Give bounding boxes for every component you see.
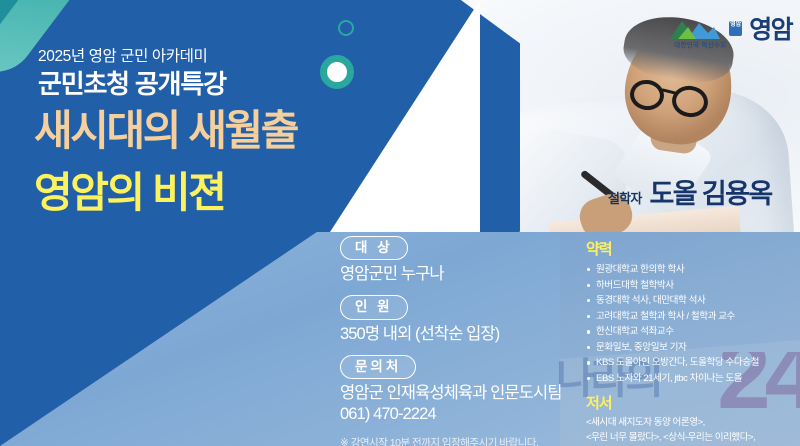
details-column: 대 상 영암군민 누구나 인 원 350명 내외 (선착순 입장) 문의처 영암… [340,236,570,446]
speaker-role: 철학자 [608,188,641,211]
detail-label-audience: 대 상 [340,236,408,260]
event-poster: 대한민국 혁신수도 영암 영암 2025년 영암 군민 아카데미 군민초청 공개… [0,0,800,446]
mountain-icon: 대한민국 혁신수도 [668,15,722,41]
list-item: 고려대학교 철학과 학사 / 철학과 교수 [586,309,798,325]
logo-seal: 영암 [729,21,742,36]
detail-value-contact: 영암군 인재육성체육과 인문도시팀 [340,383,570,404]
teal-ring-large-icon [320,55,354,89]
list-item: 하버드대학 철학박사 [586,278,798,294]
list-item: 동경대학 석사, 대만대학 석사 [586,293,798,309]
books-title: 저서 [586,392,798,413]
detail-label-contact: 문의처 [340,355,416,379]
list-item: 문화일보, 중앙일보 기자 [586,340,798,356]
list-item: 원광대학교 한의학 학사 [586,262,798,278]
list-item: 한신대학교 석좌교수 [586,324,798,340]
detail-value-audience: 영암군민 누구나 [340,264,570,285]
list-item: KBS 도올아인 오방간다, 도올학당 수다승철 [586,355,798,371]
books-line: <우린 너무 몰랐다>, <상식-우리는 이리했다>, [586,431,798,445]
bio-column: 약력 원광대학교 한의학 학사 하버드대학 철학박사 동경대학 석사, 대만대학… [586,238,798,446]
poster-kicker: 2025년 영암 군민 아카데미 [38,44,207,66]
books-section: 저서 <새시대 새지도자 동양 어론영>, <우린 너무 몰랐다>, <상식-우… [586,392,798,446]
books-line: <새시대 새지도자 동양 어론영>, [586,416,798,430]
speaker-credit: 철학자 도올 김용옥 [608,172,772,211]
headline-line-1: 새시대의 새월출 [34,110,297,152]
detail-value-capacity: 350명 내외 (선착순 입장) [340,324,570,345]
bio-list: 원광대학교 한의학 학사 하버드대학 철학박사 동경대학 석사, 대만대학 석사… [586,262,798,386]
poster-subtitle: 군민초청 공개특강 [38,64,226,101]
logo-wordmark: 영암 [749,10,792,46]
contact-phone: 061) 470-2224 [340,404,570,425]
logo-slogan: 대한민국 혁신수도 [674,40,726,49]
entry-note: ※ 강연시작 10분 전까지 입장해주시기 바랍니다. [340,435,570,446]
bio-title: 약력 [586,238,798,259]
teal-ring-small-icon [338,20,354,36]
detail-label-capacity: 인 원 [340,295,408,319]
list-item: EBS 노자와 21세기, jtbc 차이나는 도올 [586,371,798,387]
headline-line-2: 영암의 비젼 [34,172,224,214]
yeongam-logo: 대한민국 혁신수도 영암 영암 [668,10,792,46]
speaker-name: 도올 김용옥 [649,172,771,211]
